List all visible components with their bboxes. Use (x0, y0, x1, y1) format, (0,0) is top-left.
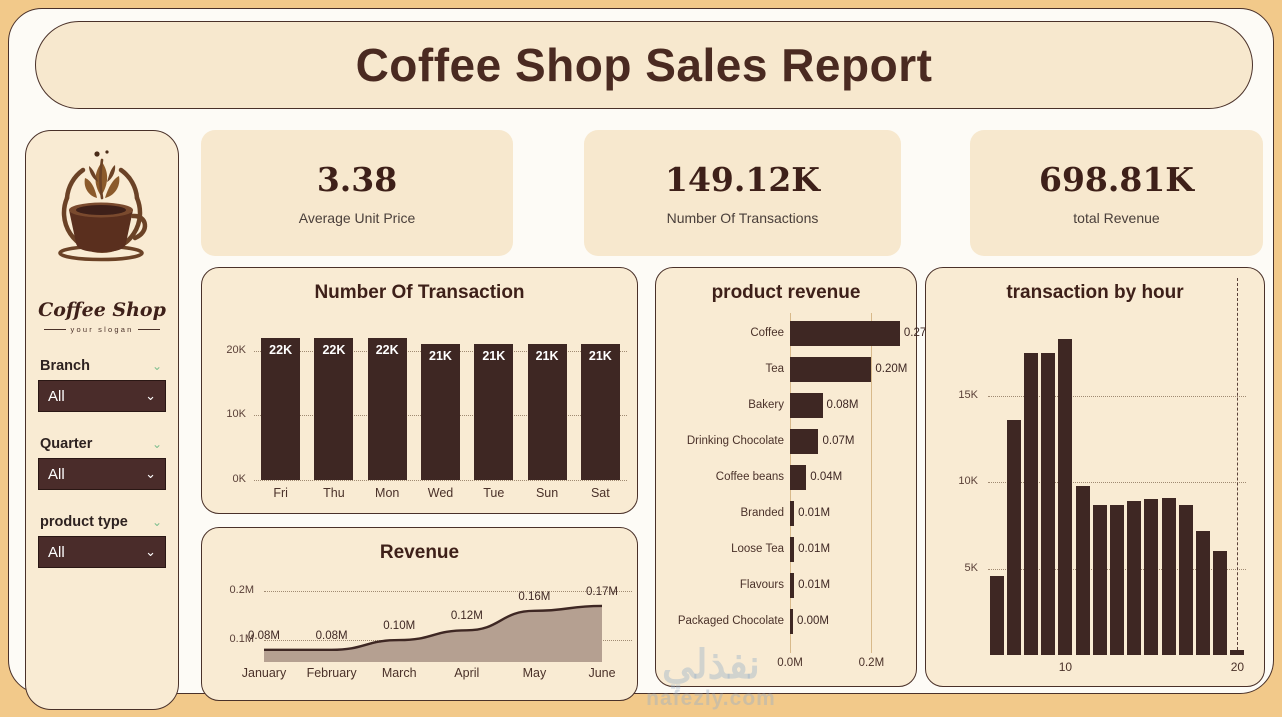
bar (1007, 420, 1021, 655)
category-label: Coffee beans (656, 465, 784, 489)
area-chart-plot-area: 0.1M0.2M0.08MJanuary0.08MFebruary0.10MMa… (202, 528, 637, 700)
bar-value-label: 0.00M (797, 609, 829, 633)
filter-quarter-header: Quarter ⌄ (38, 436, 166, 452)
dashboard-canvas: Coffee Shop Sales Report (8, 8, 1274, 694)
y-axis-tick-label: 10K (208, 408, 246, 420)
bar (790, 357, 871, 382)
bar (1076, 486, 1090, 655)
category-label: Coffee (656, 321, 784, 345)
bar (790, 321, 900, 346)
filter-branch-select[interactable]: All ⌄ (38, 380, 166, 412)
bar (1213, 551, 1227, 655)
bar (790, 573, 794, 598)
kpi-value: 149.12K (665, 160, 820, 199)
filter-quarter-value: All (48, 466, 65, 483)
kpi-card-average-unit-price: 3.38 Average Unit Price (201, 130, 513, 256)
x-axis-tick-label: January (226, 666, 302, 680)
y-axis-tick-label: 5K (934, 562, 978, 574)
kpi-label: Number Of Transactions (667, 210, 819, 226)
bar-value-label: 22K (261, 343, 300, 357)
y-axis-tick-label: 0K (208, 473, 246, 485)
chart-product-revenue: product revenue 0.0M0.2MCoffee0.27MTea0.… (655, 267, 917, 687)
filter-branch-label: Branch (40, 358, 90, 374)
coffee-cup-icon (39, 146, 165, 296)
hour-chart-plot-area: 5K10K15K1020 (926, 268, 1264, 686)
kpi-value: 3.38 (317, 160, 397, 199)
kpi-card-total-revenue: 698.81K total Revenue (970, 130, 1263, 256)
filter-product-type: product type ⌄ All ⌄ (38, 514, 166, 568)
kpi-value: 698.81K (1039, 160, 1194, 199)
bar (1179, 505, 1193, 655)
filter-product-type-select[interactable]: All ⌄ (38, 536, 166, 568)
kpi-card-number-of-transactions: 149.12K Number Of Transactions (584, 130, 901, 256)
bar-value-label: 22K (314, 343, 353, 357)
bar (1093, 505, 1107, 655)
bar-value-label: 0.20M (875, 357, 907, 381)
x-axis-tick-label: Fri (253, 486, 308, 500)
area-value-label: 0.17M (572, 586, 632, 598)
category-label: Loose Tea (656, 537, 784, 561)
x-axis-tick-label: Sat (573, 486, 628, 500)
bar-value-label: 0.07M (822, 429, 854, 453)
chart-transaction-by-hour: transaction by hour 5K10K15K1020 (925, 267, 1265, 687)
category-label: Tea (656, 357, 784, 381)
bar (990, 576, 1004, 655)
chevron-down-icon: ⌄ (145, 388, 156, 404)
area-value-label: 0.10M (369, 620, 429, 632)
chart-revenue: Revenue 0.1M0.2M0.08MJanuary0.08MFebruar… (201, 527, 638, 701)
bar (261, 338, 300, 480)
bar (421, 344, 460, 480)
x-axis-tick-label: June (564, 666, 640, 680)
bar (790, 393, 823, 418)
bar (528, 344, 567, 480)
bar-value-label: 22K (368, 343, 407, 357)
filter-product-type-label: product type (40, 514, 128, 530)
bar (790, 609, 793, 634)
x-axis-tick-label: 0.0M (760, 657, 820, 669)
chevron-down-icon: ⌄ (145, 466, 156, 482)
bar (1162, 498, 1176, 655)
bar-value-label: 21K (528, 349, 567, 363)
bar (314, 338, 353, 480)
filter-branch-value: All (48, 388, 65, 405)
bar-value-label: 0.08M (827, 393, 859, 417)
bar (1058, 339, 1072, 655)
bar (790, 501, 794, 526)
area-value-label: 0.16M (504, 591, 564, 603)
bar (1110, 505, 1124, 655)
bar (1196, 531, 1210, 655)
chevron-down-icon[interactable]: ⌄ (152, 360, 162, 372)
hbar-chart-plot-area: 0.0M0.2MCoffee0.27MTea0.20MBakery0.08MDr… (656, 268, 916, 686)
filter-quarter-label: Quarter (40, 436, 92, 452)
x-axis-tick-label: Thu (306, 486, 361, 500)
x-axis-tick-label: Sun (520, 486, 575, 500)
x-axis-tick-label: Tue (466, 486, 521, 500)
x-axis-tick-label: 10 (1041, 660, 1089, 674)
bar (790, 465, 806, 490)
bar (790, 537, 794, 562)
gridline (871, 313, 872, 653)
filter-branch: Branch ⌄ All ⌄ (38, 358, 166, 412)
bar-chart-plot-area: 0K10K20K22KFri22KThu22KMon21KWed21KTue21… (202, 268, 637, 513)
dashboard-header: Coffee Shop Sales Report (35, 21, 1253, 109)
bar (1230, 650, 1244, 655)
bar-value-label: 0.04M (810, 465, 842, 489)
category-label: Flavours (656, 573, 784, 597)
bar (1144, 499, 1158, 655)
x-axis-tick-label: 0.2M (841, 657, 901, 669)
bar (1041, 353, 1055, 655)
filter-branch-header: Branch ⌄ (38, 358, 166, 374)
chevron-down-icon[interactable]: ⌄ (152, 438, 162, 450)
category-label: Bakery (656, 393, 784, 417)
bar (368, 338, 407, 480)
filter-product-type-value: All (48, 544, 65, 561)
bar (581, 344, 620, 480)
chart-number-of-transaction: Number Of Transaction 0K10K20K22KFri22KT… (201, 267, 638, 514)
filter-product-type-header: product type ⌄ (38, 514, 166, 530)
bar-value-label: 0.01M (798, 501, 830, 525)
kpi-label: total Revenue (1073, 210, 1159, 226)
area-value-label: 0.08M (234, 630, 294, 642)
area-value-label: 0.12M (437, 610, 497, 622)
x-axis-tick-label: May (496, 666, 572, 680)
chevron-down-icon: ⌄ (145, 544, 156, 560)
x-axis-tick-label: Mon (360, 486, 415, 500)
bar-value-label: 21K (474, 349, 513, 363)
chevron-down-icon[interactable]: ⌄ (152, 516, 162, 528)
bar-value-label: 21K (421, 349, 460, 363)
category-label: Packaged Chocolate (656, 609, 784, 633)
bar-value-label: 0.01M (798, 537, 830, 561)
x-axis-tick-label: March (361, 666, 437, 680)
bar (1127, 501, 1141, 655)
filter-quarter-select[interactable]: All ⌄ (38, 458, 166, 490)
x-axis-tick-label: February (294, 666, 370, 680)
brand-logo (38, 141, 166, 301)
x-axis-tick-label: 20 (1213, 660, 1261, 674)
category-label: Branded (656, 501, 784, 525)
kpi-label: Average Unit Price (299, 210, 415, 226)
bar-value-label: 21K (581, 349, 620, 363)
sidebar-filter-panel: Coffee Shop your slogan Branch ⌄ All ⌄ Q… (25, 130, 179, 710)
bar-value-label: 0.01M (798, 573, 830, 597)
filter-quarter: Quarter ⌄ All ⌄ (38, 436, 166, 490)
area-value-label: 0.08M (302, 630, 362, 642)
y-axis-tick-label: 10K (934, 475, 978, 487)
y-axis-tick-label: 20K (208, 344, 246, 356)
x-axis-tick-label: April (429, 666, 505, 680)
page-title: Coffee Shop Sales Report (356, 38, 933, 92)
category-label: Drinking Chocolate (656, 429, 784, 453)
x-axis-tick-label: Wed (413, 486, 468, 500)
y-axis-tick-label: 15K (934, 389, 978, 401)
bar (790, 429, 818, 454)
gridline (254, 480, 627, 481)
bar (1024, 353, 1038, 655)
brand-slogan: your slogan (38, 325, 166, 334)
brand-name: Coffee Shop (38, 299, 166, 321)
bar (474, 344, 513, 480)
gridline (1237, 278, 1238, 655)
